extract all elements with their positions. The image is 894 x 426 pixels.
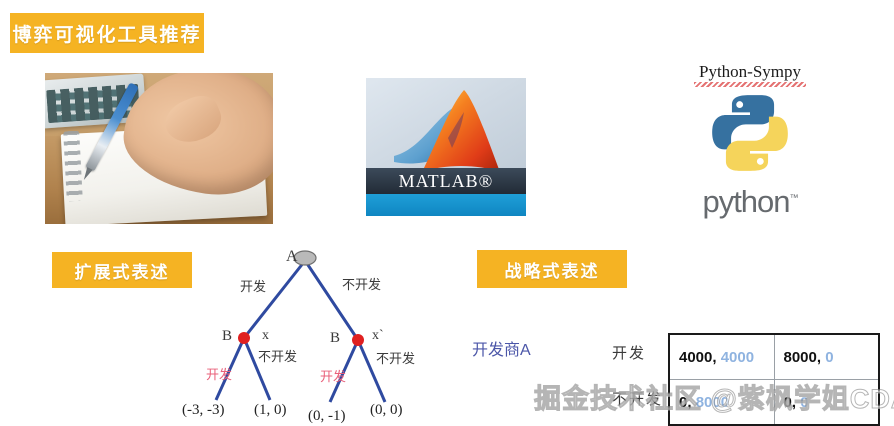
matrix-cell-r2c1: 0, 8000 — [669, 380, 774, 426]
handwriting-photo — [45, 73, 273, 224]
tree-payoff-4: (0, 0) — [370, 402, 403, 419]
matrix-cell-r2c1-p1: 0, — [679, 394, 692, 411]
matrix-row-header-2: 不开发 — [612, 388, 663, 409]
trademark-icon: ™ — [790, 193, 798, 203]
tree-node-right-branch-right-label: 不开发 — [376, 348, 415, 367]
python-logo-icon — [707, 90, 793, 176]
tree-node-right-infoset: x` — [372, 328, 384, 344]
table-row: 4000, 4000 8000, 0 — [669, 334, 879, 380]
python-sympy-heading-wrap: Python-Sympy — [660, 62, 840, 87]
matlab-membrane-icon — [392, 84, 512, 176]
tree-root-branch-right-label: 不开发 — [342, 274, 381, 293]
python-sympy-logo: Python-Sympy python™ — [660, 62, 840, 222]
matrix-cell-r2c2-p1: 0, — [784, 394, 797, 411]
matrix-cell-r2c2: 0, 0 — [774, 380, 879, 426]
game-tree-diagram: A 开发 不开发 B x 不开发 开发 B x` 不开发 开发 (-3, -3)… — [170, 240, 470, 421]
matlab-wordmark-band: MATLAB® — [366, 168, 526, 194]
matrix-cell-r2c1-p2: 8000 — [696, 394, 729, 411]
tree-payoff-3: (0, -1) — [308, 408, 346, 425]
matrix-cell-r1c2: 8000, 0 — [774, 334, 879, 380]
matrix-cell-r1c2-p2: 0 — [825, 349, 833, 366]
tree-root-label: A — [286, 248, 298, 266]
spellcheck-squiggle-icon — [694, 82, 806, 87]
tree-node-left-branch-left-label: 开发 — [206, 364, 232, 383]
tree-node-right-player: B — [330, 330, 340, 347]
page-title: 博弈可视化工具推荐 — [12, 20, 201, 47]
matrix-cell-r1c1-p1: 4000, — [679, 349, 717, 366]
matrix-cell-r1c1-p2: 4000 — [721, 349, 754, 366]
section-banner-extensive-label: 扩展式表述 — [75, 258, 170, 283]
matrix-cell-r1c1: 4000, 4000 — [669, 334, 774, 380]
matrix-player-a-label: 开发商A — [472, 336, 531, 360]
tree-payoff-1: (-3, -3) — [182, 402, 224, 419]
matrix-cell-r2c2-p2: 0 — [800, 394, 808, 411]
game-tree-edges — [170, 240, 470, 421]
python-wordmark-wrap: python™ — [660, 184, 840, 220]
python-wordmark: python — [702, 184, 789, 219]
slide-canvas: 博弈可视化工具推荐 — [0, 0, 894, 421]
matlab-wordmark: MATLAB® — [399, 171, 494, 192]
tree-root-branch-left-label: 开发 — [240, 276, 266, 295]
tree-payoff-2: (1, 0) — [254, 402, 287, 419]
tree-node-left-player: B — [222, 328, 232, 345]
tree-node-right-branch-left-label: 开发 — [320, 366, 346, 385]
table-row: 0, 8000 0, 0 — [669, 380, 879, 426]
python-sympy-heading: Python-Sympy — [699, 62, 801, 81]
matlab-blue-bar — [366, 194, 526, 216]
page-title-banner: 博弈可视化工具推荐 — [10, 13, 204, 53]
matlab-logo: MATLAB® — [366, 78, 526, 216]
tree-node-left-branch-right-label: 不开发 — [258, 346, 297, 365]
matrix-row-header-1: 开发 — [612, 342, 646, 363]
payoff-matrix-block: 开发商B 开发 不开发 开发商A 开发 不开发 4000, 4000 8000,… — [460, 262, 894, 421]
payoff-matrix-table: 4000, 4000 8000, 0 0, 8000 0, 0 — [668, 333, 880, 426]
matrix-cell-r1c2-p1: 8000, — [784, 349, 822, 366]
tree-node-left-infoset: x — [262, 328, 269, 344]
